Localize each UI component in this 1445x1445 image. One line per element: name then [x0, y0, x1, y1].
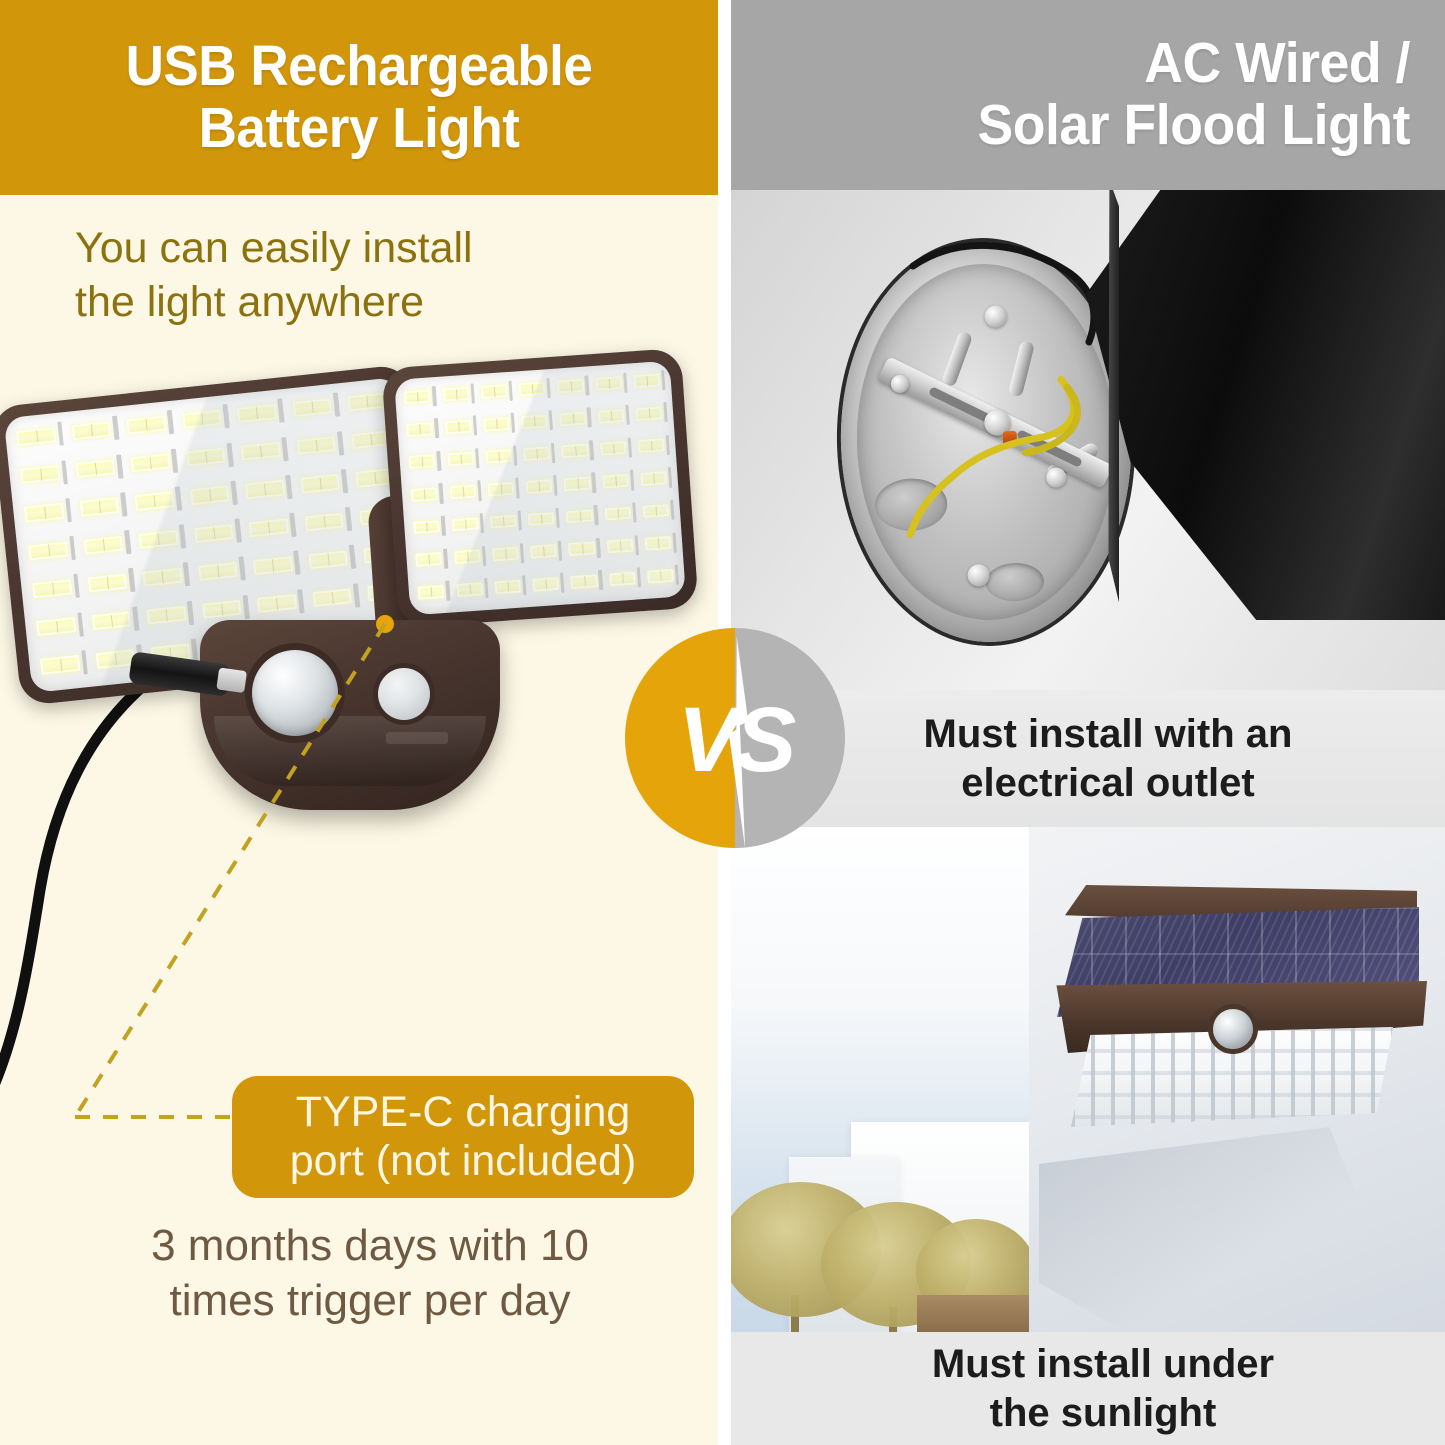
exterior-wall: [1029, 827, 1445, 1332]
leader-line: [0, 330, 700, 1150]
right-header-banner: AC Wired / Solar Flood Light: [731, 0, 1445, 190]
right-header-title: AC Wired / Solar Flood Light: [977, 33, 1430, 156]
type-c-callout-pill: TYPE-C charging port (not included): [232, 1076, 694, 1198]
solar-wall-light: [1037, 885, 1437, 1215]
solar-light-photo: [731, 827, 1445, 1332]
vs-badge: VS: [625, 628, 845, 848]
left-panel: USB Rechargeable Battery Light You can e…: [0, 0, 718, 1445]
left-header-banner: USB Rechargeable Battery Light: [0, 0, 718, 195]
left-subtitle: You can easily install the light anywher…: [75, 222, 635, 330]
black-fixture-body: [1086, 190, 1445, 620]
pir-motion-sensor-icon: [1213, 1009, 1253, 1049]
caption-sunlight-text: Must install under the sunlight: [902, 1340, 1274, 1438]
caption-outlet-text: Must install with an electrical outlet: [884, 710, 1293, 808]
left-header-title: USB Rechargeable Battery Light: [126, 36, 593, 159]
type-c-callout-text: TYPE-C charging port (not included): [290, 1088, 637, 1186]
infographic-canvas: USB Rechargeable Battery Light You can e…: [0, 0, 1445, 1445]
outdoor-scene: [731, 827, 1029, 1332]
battery-life-note: 3 months days with 10 times trigger per …: [90, 1218, 650, 1328]
junction-box-photo: [731, 190, 1445, 690]
planter-box: [917, 1295, 1029, 1332]
caption-band-sunlight: Must install under the sunlight: [731, 1332, 1445, 1445]
